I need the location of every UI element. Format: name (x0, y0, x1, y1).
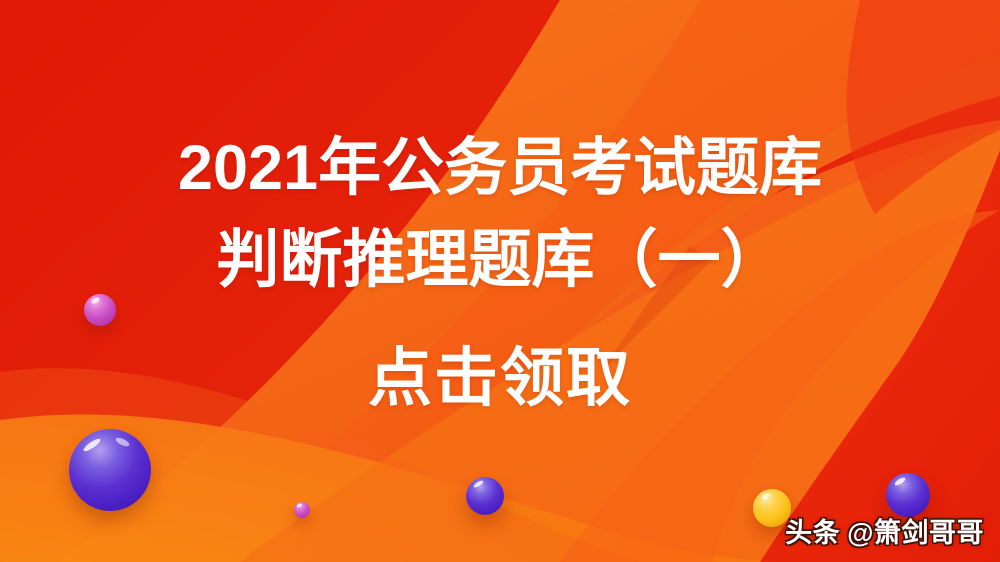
promo-poster: 2021年公务员考试题库 判断推理题库（一） 点击领取 头条 @箫剑哥哥 (0, 0, 1000, 562)
sphere-magenta-small-left (84, 294, 116, 326)
sphere-highlight (760, 492, 771, 501)
sphere-highlight (894, 476, 907, 487)
sphere-purple-center (466, 477, 504, 515)
sphere-highlight (473, 479, 484, 488)
watermark-handle: @箫剑哥哥 (847, 511, 984, 550)
sphere-magenta-tiny-center (294, 502, 310, 518)
sphere-purple-large-left (69, 429, 151, 511)
watermark-brand: 头条 (785, 511, 840, 550)
sphere-highlight (297, 503, 303, 508)
watermark: 头条 @箫剑哥哥 (785, 511, 984, 550)
sphere-highlight (82, 437, 102, 453)
sphere-highlight-secondary (114, 436, 130, 448)
sphere-highlight (90, 296, 100, 305)
